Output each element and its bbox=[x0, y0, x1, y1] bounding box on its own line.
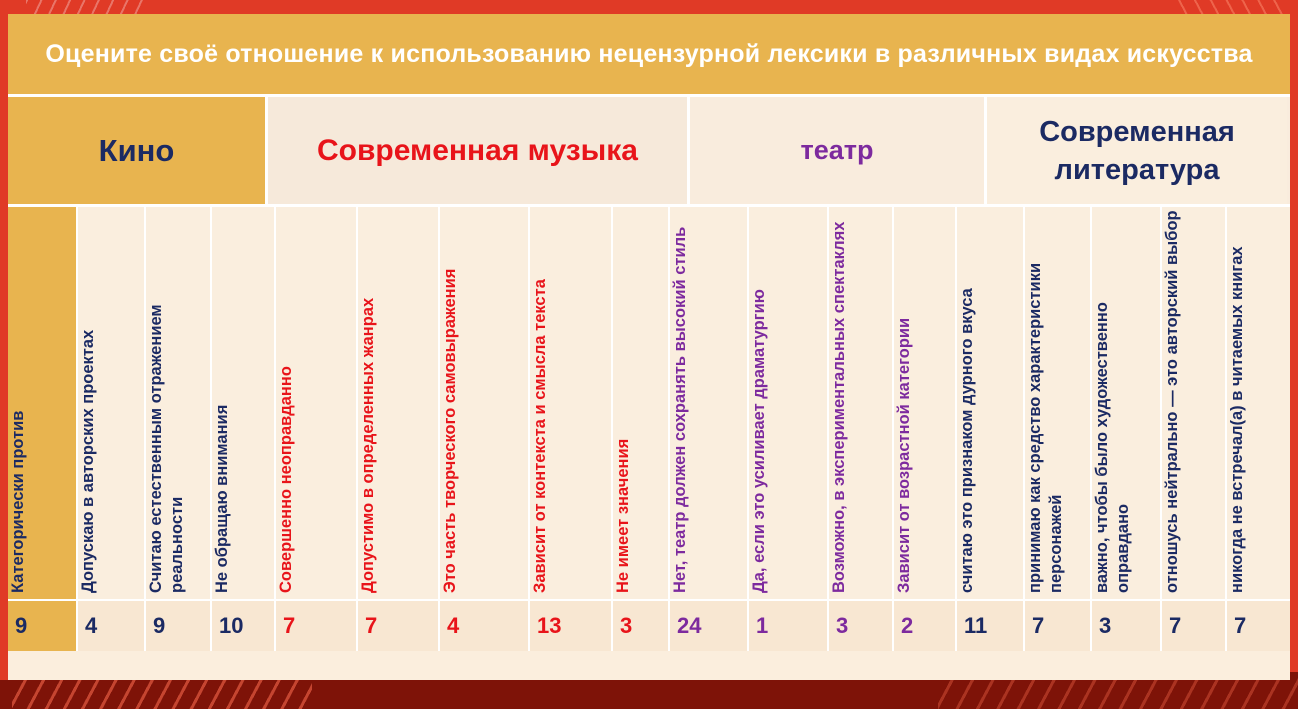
value-cell: 4 bbox=[78, 601, 146, 651]
column-header-cell: Зависит от возрастной категории bbox=[894, 207, 957, 599]
section-header-music: Современная музыка bbox=[268, 97, 690, 204]
column-header-cell: Это часть творческого самовыражения bbox=[440, 207, 530, 599]
value-cell: 10 bbox=[212, 601, 276, 651]
column-label: отношусь нейтрально — это авторский выбо… bbox=[1162, 210, 1183, 593]
column-header-cell: Зависит от контекста и смысла текста bbox=[530, 207, 613, 599]
column-header-cell: Не обращаю внимания bbox=[212, 207, 276, 599]
column-label: Считаю естественным отражением реальност… bbox=[146, 210, 188, 593]
value-cell: 7 bbox=[1025, 601, 1092, 651]
column-header-cell: отношусь нейтрально — это авторский выбо… bbox=[1162, 207, 1227, 599]
value-cell: 7 bbox=[1162, 601, 1227, 651]
column-label: важно, чтобы было художественно оправдан… bbox=[1092, 210, 1134, 593]
column-label: Допустимо в определенных жанрах bbox=[358, 210, 379, 593]
value-cell: 9 bbox=[146, 601, 212, 651]
page-title: Оцените своё отношение к использованию н… bbox=[45, 39, 1252, 69]
column-label: считаю это признаком дурного вкуса bbox=[957, 210, 978, 593]
value-cell: 24 bbox=[670, 601, 749, 651]
value-cell: 3 bbox=[829, 601, 894, 651]
column-label: Категорически против bbox=[8, 210, 29, 593]
column-header-cell: никогда не встречал(а) в читаемых книгах bbox=[1227, 207, 1290, 599]
column-label: Не имеет значения bbox=[613, 210, 634, 593]
column-label: Нет, театр должен сохранять высокий стил… bbox=[670, 210, 691, 593]
column-label: Да, если это усиливает драматургию bbox=[749, 210, 770, 593]
value-cell: 3 bbox=[1092, 601, 1162, 651]
value-cell: 4 bbox=[440, 601, 530, 651]
survey-table: Оцените своё отношение к использованию н… bbox=[8, 14, 1290, 680]
value-cell: 2 bbox=[894, 601, 957, 651]
value-cell: 7 bbox=[276, 601, 358, 651]
column-header-cell: Да, если это усиливает драматургию bbox=[749, 207, 829, 599]
value-cell: 3 bbox=[613, 601, 670, 651]
value-cell: 7 bbox=[1227, 601, 1290, 651]
column-label: Не обращаю внимания bbox=[212, 210, 233, 593]
column-header-cell: Допустимо в определенных жанрах bbox=[358, 207, 440, 599]
column-label: Совершенно неоправданно bbox=[276, 210, 297, 593]
value-cell: 1 bbox=[749, 601, 829, 651]
table-title-row: Оцените своё отношение к использованию н… bbox=[8, 14, 1290, 94]
column-label: Возможно, в экспериментальных спектаклях bbox=[829, 210, 850, 593]
value-cell: 7 bbox=[358, 601, 440, 651]
column-header-cell: Возможно, в экспериментальных спектаклях bbox=[829, 207, 894, 599]
column-header-cell: Совершенно неоправданно bbox=[276, 207, 358, 599]
values-row: 9491077413324132117377 bbox=[8, 599, 1290, 651]
value-cell: 13 bbox=[530, 601, 613, 651]
column-label: принимаю как средство характеристики пер… bbox=[1025, 210, 1067, 593]
column-label: Допускаю в авторских проектах bbox=[78, 210, 99, 593]
section-header-kino: Кино bbox=[8, 97, 268, 204]
column-header-cell: считаю это признаком дурного вкуса bbox=[957, 207, 1025, 599]
column-header-cell: Не имеет значения bbox=[613, 207, 670, 599]
column-header-cell: Допускаю в авторских проектах bbox=[78, 207, 146, 599]
column-header-cell: Нет, театр должен сохранять высокий стил… bbox=[670, 207, 749, 599]
column-header-cell: важно, чтобы было художественно оправдан… bbox=[1092, 207, 1162, 599]
vertical-label-row: Категорически противДопускаю в авторских… bbox=[8, 204, 1290, 599]
column-header-cell: Считаю естественным отражением реальност… bbox=[146, 207, 212, 599]
section-header-row: Кино Современная музыка театр Современна… bbox=[8, 94, 1290, 204]
column-label: никогда не встречал(а) в читаемых книгах bbox=[1227, 210, 1248, 593]
section-header-theatre: театр bbox=[690, 97, 987, 204]
column-header-cell: принимаю как средство характеристики пер… bbox=[1025, 207, 1092, 599]
value-cell: 9 bbox=[8, 601, 78, 651]
column-label: Это часть творческого самовыражения bbox=[440, 210, 461, 593]
section-header-literature: Современная литература bbox=[987, 97, 1287, 204]
column-header-cell: Категорически против bbox=[8, 207, 78, 599]
column-label: Зависит от возрастной категории bbox=[894, 210, 915, 593]
value-cell: 11 bbox=[957, 601, 1025, 651]
column-label: Зависит от контекста и смысла текста bbox=[530, 210, 551, 593]
